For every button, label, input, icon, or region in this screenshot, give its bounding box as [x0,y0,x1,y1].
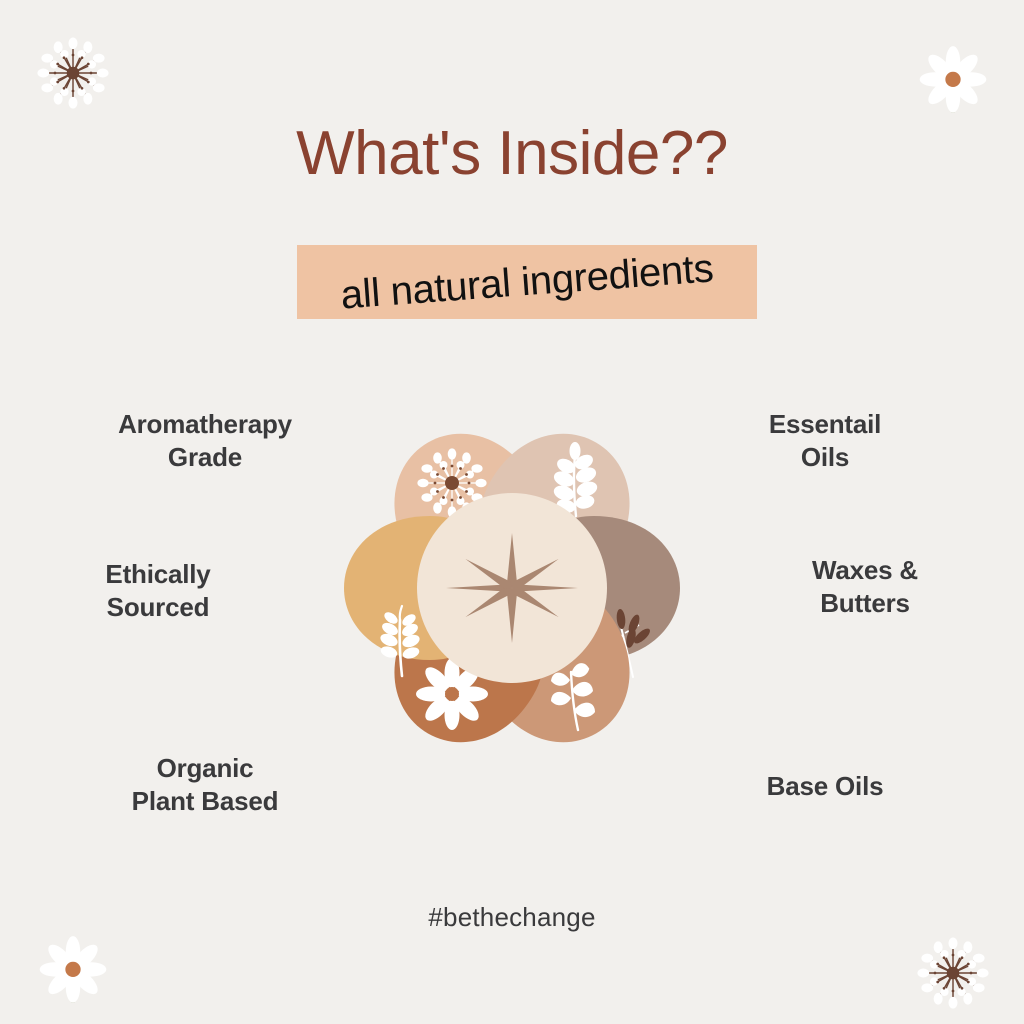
label-line: Aromatherapy [60,408,350,441]
hashtag-footer: #bethechange [0,902,1024,933]
label-line: Waxes & [740,554,990,587]
label-essentail-oils: Essentail Oils [700,408,950,475]
allium-burst-icon [28,28,118,118]
label-organic-plant-based: Organic Plant Based [55,752,355,819]
label-line: Plant Based [55,785,355,818]
label-ethically-sourced: Ethically Sourced [28,558,288,625]
label-base-oils: Base Oils [700,770,950,803]
label-line: Sourced [28,591,288,624]
label-line: Grade [60,441,350,474]
label-line: Butters [740,587,990,620]
label-aromatherapy-grade: Aromatherapy Grade [60,408,350,475]
daisy-icon [28,928,118,1018]
page-title: What's Inside?? [0,118,1024,189]
label-line: Essentail [700,408,950,441]
poster-canvas: What's Inside?? all natural ingredients [0,0,1024,1024]
label-line: Ethically [28,558,288,591]
allium-burst-icon [908,928,998,1018]
label-line: Organic [55,752,355,785]
daisy-icon [908,38,998,128]
label-waxes-butters: Waxes & Butters [740,554,990,621]
label-line: Base Oils [700,770,950,803]
label-line: Oils [700,441,950,474]
